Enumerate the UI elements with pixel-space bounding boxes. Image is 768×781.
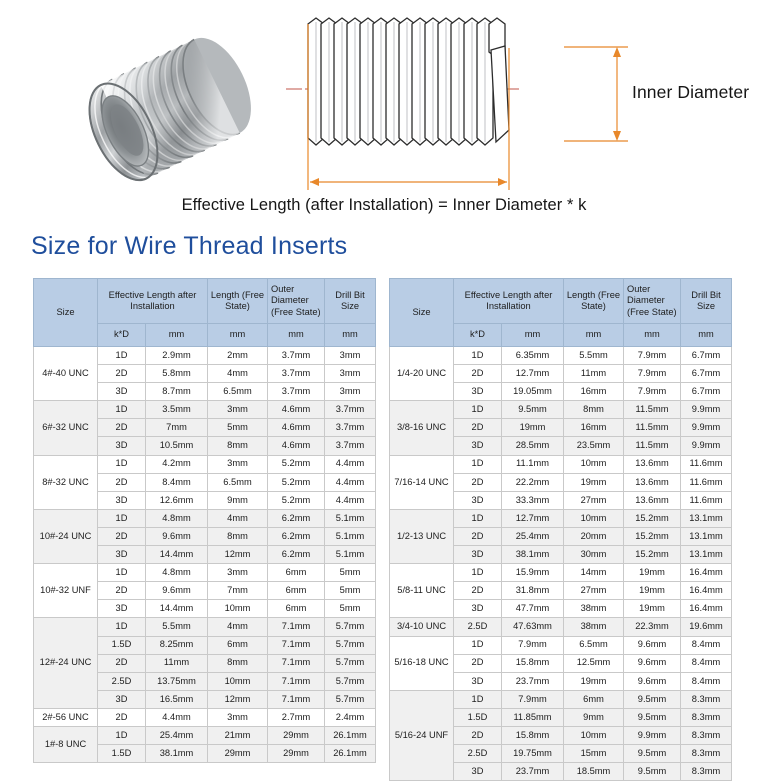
cell-outer-diameter: 15.2mm	[624, 509, 681, 527]
cell-drill-bit: 5mm	[325, 564, 376, 582]
cell-effective-length: 16.5mm	[146, 690, 208, 708]
cell-effective-length: 22.2mm	[502, 473, 564, 491]
cell-size: 3/8-16 UNC	[390, 401, 454, 455]
cell-effective-length: 8.25mm	[146, 636, 208, 654]
cell-effective-length: 4.8mm	[146, 564, 208, 582]
cell-kd: 3D	[98, 546, 146, 564]
cell-effective-length: 19mm	[502, 419, 564, 437]
cell-size: 5/16-18 UNC	[390, 636, 454, 690]
cell-kd: 1.5D	[454, 708, 502, 726]
cell-effective-length: 7mm	[146, 419, 208, 437]
cell-effective-length: 15.8mm	[502, 654, 564, 672]
cell-drill-bit: 6.7mm	[681, 347, 732, 365]
cell-free-length: 16mm	[564, 419, 624, 437]
cell-free-length: 19mm	[564, 672, 624, 690]
cell-drill-bit: 5.7mm	[325, 654, 376, 672]
cell-kd: 3D	[454, 437, 502, 455]
cell-kd: 1D	[454, 636, 502, 654]
cell-outer-diameter: 6.2mm	[268, 527, 325, 545]
cell-outer-diameter: 9.6mm	[624, 672, 681, 690]
cell-free-length: 23.5mm	[564, 437, 624, 455]
unit-header-mm-free: mm	[208, 324, 268, 347]
cell-free-length: 6.5mm	[208, 473, 268, 491]
table-row: 4#-40 UNC1D2.9mm2mm3.7mm3mm	[34, 347, 376, 365]
table-row: 12#-24 UNC1D5.5mm4mm7.1mm5.7mm	[34, 618, 376, 636]
cell-kd: 3D	[98, 690, 146, 708]
cell-free-length: 4mm	[208, 365, 268, 383]
cell-drill-bit: 11.6mm	[681, 473, 732, 491]
cell-effective-length: 12.7mm	[502, 365, 564, 383]
header-row-titles: Size Effective Length after Installation…	[34, 279, 376, 324]
cell-effective-length: 4.2mm	[146, 455, 208, 473]
cell-effective-length: 9.6mm	[146, 527, 208, 545]
cell-effective-length: 25.4mm	[146, 726, 208, 744]
cell-kd: 2D	[454, 473, 502, 491]
cell-drill-bit: 3.7mm	[325, 401, 376, 419]
cell-drill-bit: 2.4mm	[325, 708, 376, 726]
cell-drill-bit: 5mm	[325, 600, 376, 618]
table-row: 10#-32 UNF1D4.8mm3mm6mm5mm	[34, 564, 376, 582]
cell-drill-bit: 3mm	[325, 383, 376, 401]
cell-outer-diameter: 7.9mm	[624, 347, 681, 365]
cell-free-length: 27mm	[564, 491, 624, 509]
cell-size: 10#-24 UNC	[34, 509, 98, 563]
cell-outer-diameter: 7.1mm	[268, 636, 325, 654]
cell-kd: 3D	[454, 672, 502, 690]
cell-free-length: 9mm	[564, 708, 624, 726]
cell-effective-length: 38.1mm	[146, 745, 208, 763]
cell-outer-diameter: 5.2mm	[268, 473, 325, 491]
cell-effective-length: 13.75mm	[146, 672, 208, 690]
thread-profile-schematic	[286, 0, 586, 200]
cell-free-length: 3mm	[208, 401, 268, 419]
cell-outer-diameter: 29mm	[268, 726, 325, 744]
cell-size: 4#-40 UNC	[34, 347, 98, 401]
cell-outer-diameter: 15.2mm	[624, 546, 681, 564]
unit-header-kd: k*D	[454, 324, 502, 347]
cell-effective-length: 5.8mm	[146, 365, 208, 383]
cell-effective-length: 7.9mm	[502, 636, 564, 654]
cell-free-length: 21mm	[208, 726, 268, 744]
cell-kd: 3D	[98, 491, 146, 509]
cell-kd: 3D	[454, 600, 502, 618]
table-body-right: 1/4-20 UNC1D6.35mm5.5mm7.9mm6.7mm2D12.7m…	[390, 347, 732, 781]
cell-outer-diameter: 7.9mm	[624, 383, 681, 401]
cell-effective-length: 28.5mm	[502, 437, 564, 455]
cell-free-length: 15mm	[564, 745, 624, 763]
cell-effective-length: 9.6mm	[146, 582, 208, 600]
cell-free-length: 6mm	[564, 690, 624, 708]
header-row-titles: Size Effective Length after Installation…	[390, 279, 732, 324]
cell-effective-length: 23.7mm	[502, 763, 564, 781]
col-header-effective-length: Effective Length after Installation	[98, 279, 208, 324]
cell-kd: 2D	[98, 527, 146, 545]
cell-outer-diameter: 9.5mm	[624, 763, 681, 781]
cell-outer-diameter: 22.3mm	[624, 618, 681, 636]
cell-free-length: 27mm	[564, 582, 624, 600]
cell-drill-bit: 5mm	[325, 582, 376, 600]
cell-effective-length: 47.7mm	[502, 600, 564, 618]
cell-drill-bit: 6.7mm	[681, 365, 732, 383]
cell-outer-diameter: 3.7mm	[268, 383, 325, 401]
cell-drill-bit: 26.1mm	[325, 726, 376, 744]
cell-kd: 1D	[454, 564, 502, 582]
cell-drill-bit: 16.4mm	[681, 564, 732, 582]
cell-drill-bit: 9.9mm	[681, 401, 732, 419]
cell-effective-length: 19.05mm	[502, 383, 564, 401]
cell-outer-diameter: 7.1mm	[268, 654, 325, 672]
cell-effective-length: 14.4mm	[146, 546, 208, 564]
cell-kd: 2D	[98, 654, 146, 672]
cell-drill-bit: 11.6mm	[681, 455, 732, 473]
cell-outer-diameter: 29mm	[268, 745, 325, 763]
cell-effective-length: 31.8mm	[502, 582, 564, 600]
cell-effective-length: 4.4mm	[146, 708, 208, 726]
cell-drill-bit: 3.7mm	[325, 437, 376, 455]
cell-drill-bit: 8.4mm	[681, 654, 732, 672]
table-header-left: Size Effective Length after Installation…	[34, 279, 376, 347]
effective-length-formula-caption: Effective Length (after Installation) = …	[0, 196, 768, 215]
cell-size: 8#-32 UNC	[34, 455, 98, 509]
size-table-left: Size Effective Length after Installation…	[33, 278, 376, 763]
cell-size: 1/2-13 UNC	[390, 509, 454, 563]
cell-outer-diameter: 9.6mm	[624, 636, 681, 654]
cell-kd: 2D	[454, 654, 502, 672]
cell-kd: 1.5D	[98, 745, 146, 763]
cell-free-length: 8mm	[208, 527, 268, 545]
cell-drill-bit: 8.3mm	[681, 763, 732, 781]
cell-outer-diameter: 9.5mm	[624, 690, 681, 708]
unit-header-mm-eff: mm	[502, 324, 564, 347]
cell-free-length: 12.5mm	[564, 654, 624, 672]
table-row: 5/16-18 UNC1D7.9mm6.5mm9.6mm8.4mm	[390, 636, 732, 654]
cell-kd: 3D	[454, 546, 502, 564]
cell-effective-length: 15.9mm	[502, 564, 564, 582]
cell-effective-length: 33.3mm	[502, 491, 564, 509]
cell-kd: 1D	[454, 401, 502, 419]
cell-free-length: 20mm	[564, 527, 624, 545]
cell-drill-bit: 13.1mm	[681, 546, 732, 564]
cell-outer-diameter: 9.6mm	[624, 654, 681, 672]
cell-kd: 3D	[454, 763, 502, 781]
cell-free-length: 12mm	[208, 690, 268, 708]
cell-drill-bit: 4.4mm	[325, 473, 376, 491]
cell-kd: 3D	[454, 383, 502, 401]
cell-size: 1/4-20 UNC	[390, 347, 454, 401]
cell-size: 5/16-24 UNF	[390, 690, 454, 780]
cell-free-length: 6.5mm	[564, 636, 624, 654]
cell-size: 2#-56 UNC	[34, 708, 98, 726]
cell-drill-bit: 5.7mm	[325, 672, 376, 690]
cell-effective-length: 3.5mm	[146, 401, 208, 419]
cell-effective-length: 11mm	[146, 654, 208, 672]
cell-outer-diameter: 4.6mm	[268, 401, 325, 419]
size-table-right: Size Effective Length after Installation…	[389, 278, 732, 781]
col-header-outer-diameter: Outer Diameter (Free State)	[268, 279, 325, 324]
table-row: 10#-24 UNC1D4.8mm4mm6.2mm5.1mm	[34, 509, 376, 527]
col-header-size: Size	[34, 279, 98, 347]
cell-free-length: 16mm	[564, 383, 624, 401]
cell-drill-bit: 16.4mm	[681, 582, 732, 600]
cell-free-length: 10mm	[208, 672, 268, 690]
cell-outer-diameter: 11.5mm	[624, 401, 681, 419]
cell-effective-length: 12.7mm	[502, 509, 564, 527]
cell-outer-diameter: 13.6mm	[624, 491, 681, 509]
cell-kd: 2D	[454, 726, 502, 744]
cell-effective-length: 38.1mm	[502, 546, 564, 564]
cell-drill-bit: 5.1mm	[325, 527, 376, 545]
cell-kd: 2D	[454, 527, 502, 545]
cell-free-length: 3mm	[208, 564, 268, 582]
cell-kd: 2D	[454, 365, 502, 383]
table-row: 1/2-13 UNC1D12.7mm10mm15.2mm13.1mm	[390, 509, 732, 527]
cell-effective-length: 11.1mm	[502, 455, 564, 473]
unit-header-mm-eff: mm	[146, 324, 208, 347]
cell-drill-bit: 3mm	[325, 365, 376, 383]
cell-effective-length: 6.35mm	[502, 347, 564, 365]
cell-size: 7/16-14 UNC	[390, 455, 454, 509]
cell-drill-bit: 9.9mm	[681, 437, 732, 455]
cell-outer-diameter: 13.6mm	[624, 455, 681, 473]
cell-outer-diameter: 9.5mm	[624, 708, 681, 726]
cell-kd: 2.5D	[454, 618, 502, 636]
cell-drill-bit: 5.7mm	[325, 636, 376, 654]
cell-free-length: 14mm	[564, 564, 624, 582]
cell-free-length: 7mm	[208, 582, 268, 600]
cell-free-length: 8mm	[208, 437, 268, 455]
cell-kd: 1D	[454, 690, 502, 708]
table-body-left: 4#-40 UNC1D2.9mm2mm3.7mm3mm2D5.8mm4mm3.7…	[34, 347, 376, 763]
cell-free-length: 29mm	[208, 745, 268, 763]
cell-outer-diameter: 19mm	[624, 600, 681, 618]
table-row: 1/4-20 UNC1D6.35mm5.5mm7.9mm6.7mm	[390, 347, 732, 365]
size-table-left-wrapper: Size Effective Length after Installation…	[33, 278, 375, 763]
cell-outer-diameter: 6mm	[268, 564, 325, 582]
cell-free-length: 10mm	[564, 509, 624, 527]
cell-kd: 2D	[454, 582, 502, 600]
cell-kd: 2D	[98, 582, 146, 600]
cell-free-length: 10mm	[564, 455, 624, 473]
col-header-free-length: Length (Free State)	[208, 279, 268, 324]
cell-outer-diameter: 7.1mm	[268, 672, 325, 690]
cell-drill-bit: 16.4mm	[681, 600, 732, 618]
table-row: 1#-8 UNC1D25.4mm21mm29mm26.1mm	[34, 726, 376, 744]
table-header-right: Size Effective Length after Installation…	[390, 279, 732, 347]
col-header-free-length: Length (Free State)	[564, 279, 624, 324]
cell-kd: 1D	[98, 564, 146, 582]
cell-drill-bit: 26.1mm	[325, 745, 376, 763]
cell-kd: 2D	[98, 473, 146, 491]
cell-free-length: 18.5mm	[564, 763, 624, 781]
cell-outer-diameter: 4.6mm	[268, 437, 325, 455]
col-header-size: Size	[390, 279, 454, 347]
cell-outer-diameter: 6mm	[268, 582, 325, 600]
table-row: 8#-32 UNC1D4.2mm3mm5.2mm4.4mm	[34, 455, 376, 473]
cell-effective-length: 4.8mm	[146, 509, 208, 527]
table-row: 5/8-11 UNC1D15.9mm14mm19mm16.4mm	[390, 564, 732, 582]
cell-free-length: 38mm	[564, 600, 624, 618]
cell-kd: 2D	[454, 419, 502, 437]
unit-header-mm-od: mm	[268, 324, 325, 347]
cell-kd: 2D	[98, 365, 146, 383]
cell-outer-diameter: 15.2mm	[624, 527, 681, 545]
cell-free-length: 5.5mm	[564, 347, 624, 365]
cell-free-length: 5mm	[208, 419, 268, 437]
table-row: 7/16-14 UNC1D11.1mm10mm13.6mm11.6mm	[390, 455, 732, 473]
cell-kd: 1D	[98, 401, 146, 419]
cell-free-length: 8mm	[564, 401, 624, 419]
cell-outer-diameter: 5.2mm	[268, 491, 325, 509]
cell-kd: 1D	[98, 509, 146, 527]
table-row: 2#-56 UNC2D4.4mm3mm2.7mm2.4mm	[34, 708, 376, 726]
cell-kd: 3D	[98, 437, 146, 455]
cell-effective-length: 7.9mm	[502, 690, 564, 708]
cell-kd: 2D	[98, 419, 146, 437]
cell-effective-length: 14.4mm	[146, 600, 208, 618]
cell-drill-bit: 5.7mm	[325, 618, 376, 636]
cell-drill-bit: 5.7mm	[325, 690, 376, 708]
cell-size: 12#-24 UNC	[34, 618, 98, 708]
cell-outer-diameter: 7.1mm	[268, 690, 325, 708]
cell-effective-length: 12.6mm	[146, 491, 208, 509]
cell-drill-bit: 8.3mm	[681, 708, 732, 726]
cell-free-length: 2mm	[208, 347, 268, 365]
cell-free-length: 19mm	[564, 473, 624, 491]
cell-free-length: 10mm	[208, 600, 268, 618]
cell-kd: 3D	[98, 600, 146, 618]
cell-drill-bit: 4.4mm	[325, 455, 376, 473]
cell-kd: 1D	[454, 455, 502, 473]
cell-free-length: 10mm	[564, 726, 624, 744]
cell-size: 5/8-11 UNC	[390, 564, 454, 618]
cell-free-length: 4mm	[208, 618, 268, 636]
cell-effective-length: 11.85mm	[502, 708, 564, 726]
cell-outer-diameter: 6.2mm	[268, 546, 325, 564]
cell-drill-bit: 8.3mm	[681, 690, 732, 708]
unit-header-kd: k*D	[98, 324, 146, 347]
cell-effective-length: 10.5mm	[146, 437, 208, 455]
cell-drill-bit: 3.7mm	[325, 419, 376, 437]
cell-size: 3/4-10 UNC	[390, 618, 454, 636]
unit-header-mm-drill: mm	[681, 324, 732, 347]
cell-outer-diameter: 6.2mm	[268, 509, 325, 527]
cell-drill-bit: 9.9mm	[681, 419, 732, 437]
cell-effective-length: 9.5mm	[502, 401, 564, 419]
cell-free-length: 3mm	[208, 708, 268, 726]
cell-outer-diameter: 13.6mm	[624, 473, 681, 491]
cell-drill-bit: 13.1mm	[681, 527, 732, 545]
cell-kd: 3D	[98, 383, 146, 401]
cell-free-length: 11mm	[564, 365, 624, 383]
cell-kd: 1D	[454, 509, 502, 527]
cell-outer-diameter: 7.9mm	[624, 365, 681, 383]
page-title: Size for Wire Thread Inserts	[31, 232, 347, 261]
cell-kd: 3D	[454, 491, 502, 509]
cell-effective-length: 8.4mm	[146, 473, 208, 491]
cell-kd: 1D	[98, 726, 146, 744]
size-table-right-wrapper: Size Effective Length after Installation…	[389, 278, 731, 781]
cell-outer-diameter: 3.7mm	[268, 365, 325, 383]
col-header-effective-length: Effective Length after Installation	[454, 279, 564, 324]
cell-kd: 1D	[98, 455, 146, 473]
cell-effective-length: 25.4mm	[502, 527, 564, 545]
wire-thread-insert-photo	[48, 14, 286, 204]
cell-kd: 1D	[98, 618, 146, 636]
cell-kd: 1D	[454, 347, 502, 365]
cell-free-length: 30mm	[564, 546, 624, 564]
cell-drill-bit: 8.4mm	[681, 672, 732, 690]
cell-free-length: 8mm	[208, 654, 268, 672]
cell-outer-diameter: 3.7mm	[268, 347, 325, 365]
unit-header-mm-od: mm	[624, 324, 681, 347]
cell-free-length: 6.5mm	[208, 383, 268, 401]
cell-outer-diameter: 11.5mm	[624, 437, 681, 455]
cell-effective-length: 2.9mm	[146, 347, 208, 365]
col-header-drill-bit: Drill Bit Size	[681, 279, 732, 324]
cell-outer-diameter: 9.5mm	[624, 745, 681, 763]
cell-drill-bit: 8.3mm	[681, 745, 732, 763]
cell-drill-bit: 4.4mm	[325, 491, 376, 509]
cell-drill-bit: 8.4mm	[681, 636, 732, 654]
cell-size: 6#-32 UNC	[34, 401, 98, 455]
cell-outer-diameter: 4.6mm	[268, 419, 325, 437]
cell-free-length: 12mm	[208, 546, 268, 564]
unit-header-mm-drill: mm	[325, 324, 376, 347]
cell-size: 1#-8 UNC	[34, 726, 98, 762]
cell-drill-bit: 11.6mm	[681, 491, 732, 509]
cell-size: 10#-32 UNF	[34, 564, 98, 618]
cell-drill-bit: 19.6mm	[681, 618, 732, 636]
cell-outer-diameter: 19mm	[624, 564, 681, 582]
cell-free-length: 38mm	[564, 618, 624, 636]
col-header-outer-diameter: Outer Diameter (Free State)	[624, 279, 681, 324]
cell-free-length: 4mm	[208, 509, 268, 527]
cell-drill-bit: 13.1mm	[681, 509, 732, 527]
cell-outer-diameter: 11.5mm	[624, 419, 681, 437]
unit-header-mm-free: mm	[564, 324, 624, 347]
table-row: 3/8-16 UNC1D9.5mm8mm11.5mm9.9mm	[390, 401, 732, 419]
col-header-drill-bit: Drill Bit Size	[325, 279, 376, 324]
inner-diameter-label: Inner Diameter	[632, 82, 749, 103]
cell-effective-length: 19.75mm	[502, 745, 564, 763]
cell-drill-bit: 3mm	[325, 347, 376, 365]
cell-outer-diameter: 6mm	[268, 600, 325, 618]
cell-outer-diameter: 9.9mm	[624, 726, 681, 744]
cell-effective-length: 5.5mm	[146, 618, 208, 636]
table-row: 6#-32 UNC1D3.5mm3mm4.6mm3.7mm	[34, 401, 376, 419]
cell-outer-diameter: 2.7mm	[268, 708, 325, 726]
cell-effective-length: 47.63mm	[502, 618, 564, 636]
table-row: 3/4-10 UNC2.5D47.63mm38mm22.3mm19.6mm	[390, 618, 732, 636]
product-diagram-area: Inner Diameter Effective Length (after I…	[0, 0, 768, 228]
cell-effective-length: 8.7mm	[146, 383, 208, 401]
cell-drill-bit: 8.3mm	[681, 726, 732, 744]
cell-outer-diameter: 19mm	[624, 582, 681, 600]
cell-effective-length: 23.7mm	[502, 672, 564, 690]
cell-free-length: 3mm	[208, 455, 268, 473]
cell-free-length: 9mm	[208, 491, 268, 509]
cell-drill-bit: 5.1mm	[325, 509, 376, 527]
cell-kd: 1.5D	[98, 636, 146, 654]
cell-free-length: 6mm	[208, 636, 268, 654]
cell-kd: 2.5D	[98, 672, 146, 690]
cell-kd: 2.5D	[454, 745, 502, 763]
cell-effective-length: 15.8mm	[502, 726, 564, 744]
table-row: 5/16-24 UNF1D7.9mm6mm9.5mm8.3mm	[390, 690, 732, 708]
cell-drill-bit: 6.7mm	[681, 383, 732, 401]
cell-kd: 2D	[98, 708, 146, 726]
cell-drill-bit: 5.1mm	[325, 546, 376, 564]
